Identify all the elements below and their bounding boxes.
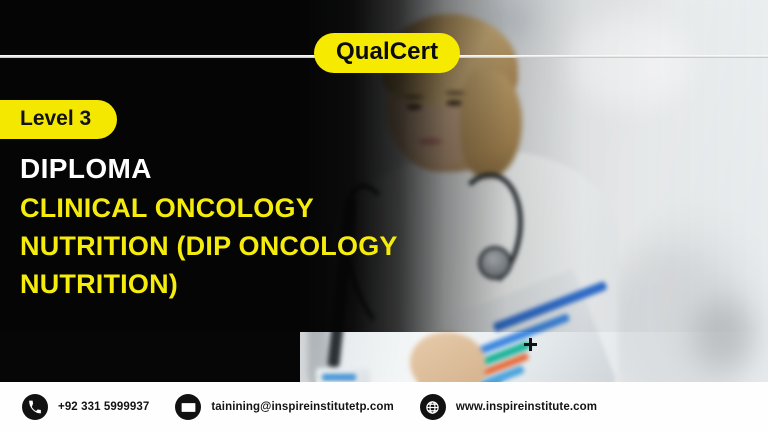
email-address: tainining@inspireinstitutetp.com [211, 401, 393, 413]
contact-website[interactable]: www.inspireinstitute.com [420, 394, 597, 420]
contact-phone[interactable]: +92 331 5999937 [22, 394, 149, 420]
course-title: CLINICAL ONCOLOGY NUTRITION (DIP ONCOLOG… [20, 189, 450, 304]
globe-icon [420, 394, 446, 420]
course-poster: QualCert Level 3 DIPLOMA CLINICAL ONCOLO… [0, 0, 768, 432]
course-type-label: DIPLOMA [20, 152, 450, 186]
phone-number: +92 331 5999937 [58, 401, 149, 413]
contact-email[interactable]: tainining@inspireinstitutetp.com [175, 394, 393, 420]
crosshair-cursor-icon [524, 338, 537, 351]
course-heading-block: DIPLOMA CLINICAL ONCOLOGY NUTRITION (DIP… [20, 152, 450, 304]
brand-badge: QualCert [314, 33, 460, 73]
contact-footer: +92 331 5999937 tainining@inspireinstitu… [0, 382, 768, 432]
id-badge-line [322, 374, 356, 380]
phone-icon [22, 394, 48, 420]
email-icon [175, 394, 201, 420]
website-url: www.inspireinstitute.com [456, 401, 597, 413]
level-badge: Level 3 [0, 100, 117, 139]
